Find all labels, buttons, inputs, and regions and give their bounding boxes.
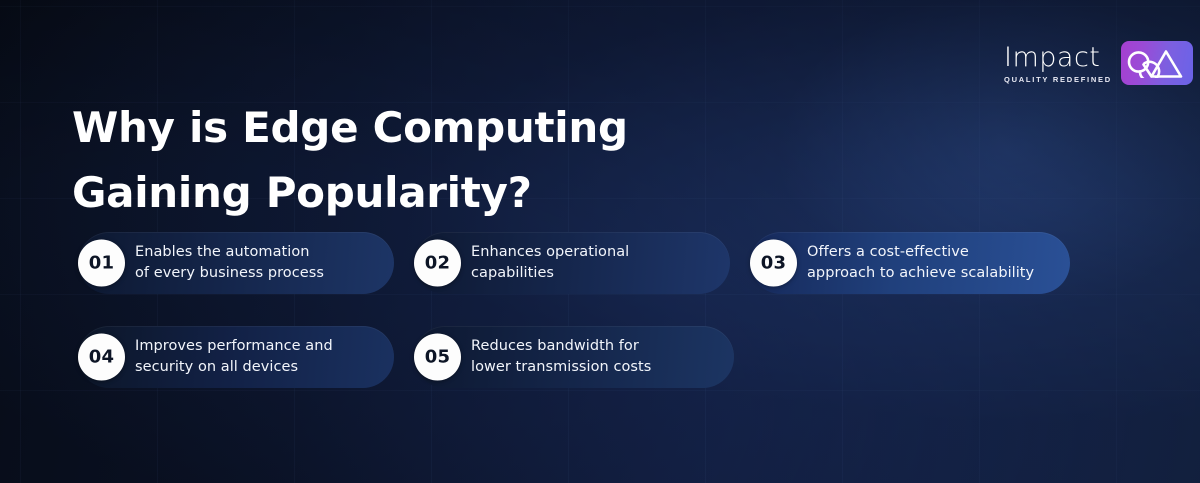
benefit-item-01[interactable]: 01 Enables the automation of every busin… xyxy=(78,232,394,294)
benefit-label-03: Offers a cost-effective approach to achi… xyxy=(807,242,1034,283)
brand-name-text: Impact xyxy=(1004,44,1100,71)
benefit-item-03[interactable]: 03 Offers a cost-effective approach to a… xyxy=(750,232,1070,294)
qa-badge-icon xyxy=(1121,41,1193,85)
benefit-number-badge-01: 01 xyxy=(78,240,125,287)
benefit-number-badge-02: 02 xyxy=(414,240,461,287)
brand-tagline-text: QUALITY REDEFINED xyxy=(1004,76,1112,84)
page-title-line-2: Gaining Popularity? xyxy=(72,161,712,226)
benefit-label-05: Reduces bandwidth for lower transmission… xyxy=(471,336,651,377)
benefit-label-01: Enables the automation of every business… xyxy=(135,242,324,283)
benefit-row-2: 04 Improves performance and security on … xyxy=(78,326,1070,388)
benefit-item-04[interactable]: 04 Improves performance and security on … xyxy=(78,326,394,388)
page-title: Why is Edge Computing Gaining Popularity… xyxy=(72,96,712,225)
infographic-canvas: Impact QUALITY REDEFINED Why is Edge Com… xyxy=(0,0,1200,483)
benefit-item-02[interactable]: 02 Enhances operational capabilities xyxy=(414,232,730,294)
benefit-number-badge-03: 03 xyxy=(750,240,797,287)
benefit-number-badge-04: 04 xyxy=(78,334,125,381)
page-title-line-1: Why is Edge Computing xyxy=(72,96,712,161)
benefit-label-02: Enhances operational capabilities xyxy=(471,242,629,283)
benefit-row-1: 01 Enables the automation of every busin… xyxy=(78,232,1070,294)
brand-wordmark: Impact QUALITY REDEFINED xyxy=(1004,42,1112,84)
brand-logo[interactable]: Impact QUALITY REDEFINED xyxy=(1004,41,1193,85)
benefit-list: 01 Enables the automation of every busin… xyxy=(78,232,1070,388)
benefit-number-badge-05: 05 xyxy=(414,334,461,381)
benefit-label-04: Improves performance and security on all… xyxy=(135,336,333,377)
benefit-item-05[interactable]: 05 Reduces bandwidth for lower transmiss… xyxy=(414,326,734,388)
